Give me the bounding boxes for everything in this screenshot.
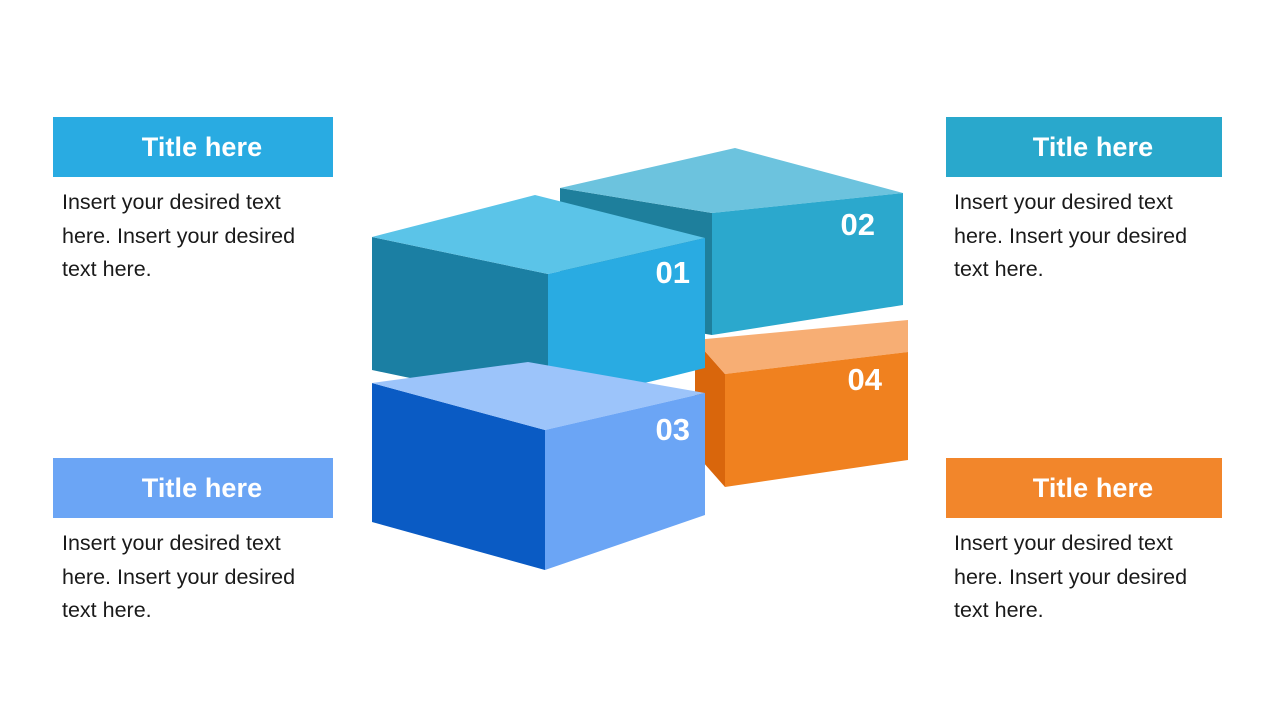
cube-03[interactable]: 03 (372, 362, 705, 570)
title-text-03: Title here (142, 475, 263, 502)
body-text-04: Insert your desired text here. Insert yo… (946, 527, 1206, 628)
info-block-bottom-right[interactable]: Title here Insert your desired text here… (946, 458, 1222, 628)
info-block-top-right[interactable]: Title here Insert your desired text here… (946, 117, 1222, 287)
cube-04-number: 04 (848, 362, 883, 397)
info-block-bottom-left[interactable]: Title here Insert your desired text here… (53, 458, 333, 628)
slide-canvas: Title here Insert your desired text here… (0, 0, 1280, 720)
title-text-04: Title here (1033, 475, 1154, 502)
cube-04[interactable]: 04 (695, 320, 908, 487)
info-block-top-left[interactable]: Title here Insert your desired text here… (53, 117, 333, 287)
title-bar-02[interactable]: Title here (946, 117, 1222, 177)
body-text-02: Insert your desired text here. Insert yo… (946, 186, 1206, 287)
title-text-02: Title here (1033, 134, 1154, 161)
cube-02-number: 02 (841, 207, 875, 242)
cube-03-number: 03 (656, 412, 690, 447)
body-text-03: Insert your desired text here. Insert yo… (53, 527, 312, 628)
body-text-01: Insert your desired text here. Insert yo… (53, 186, 312, 287)
title-bar-01[interactable]: Title here (53, 117, 333, 177)
title-bar-03[interactable]: Title here (53, 458, 333, 518)
cube-cluster-graphic: 02 04 01 (360, 140, 920, 585)
cube-01-number: 01 (656, 255, 690, 290)
title-text-01: Title here (142, 134, 263, 161)
title-bar-04[interactable]: Title here (946, 458, 1222, 518)
